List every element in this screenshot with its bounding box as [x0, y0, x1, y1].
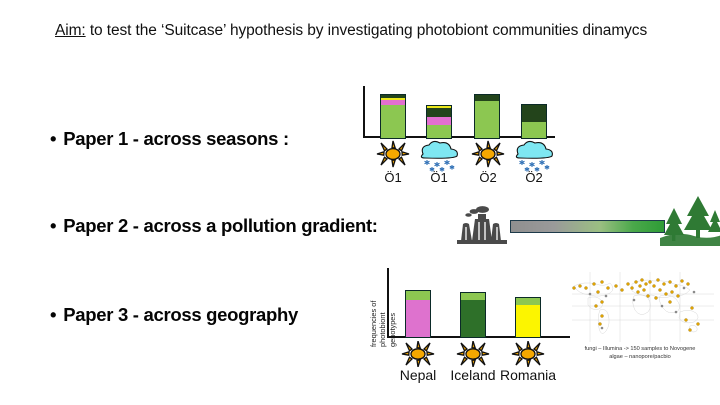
chart3-bar-iceland-seg-main — [461, 300, 485, 337]
gradient-bar — [510, 220, 665, 233]
chart1-bar-3 — [474, 94, 500, 139]
chart1-y-axis — [363, 86, 365, 138]
chart3-bar-iceland — [460, 292, 486, 338]
aim-statement: Aim: to test the ‘Suitcase’ hypothesis b… — [55, 20, 675, 41]
chart1-bar-2-seg-darkgreen — [427, 108, 451, 116]
chart1-bar-3-seg-lightgreen — [475, 101, 499, 138]
bullet-dot-icon: • — [50, 128, 56, 150]
world-sampling-map — [572, 272, 714, 342]
aim-label: Aim: — [55, 22, 86, 39]
chart1-bar-4 — [521, 104, 547, 139]
bullet-paper-3-label: Paper 3 - across geography — [63, 304, 298, 325]
bullet-paper-1-label: Paper 1 - across seasons : — [63, 128, 289, 149]
factory-icon — [455, 202, 509, 251]
slide-canvas: Aim: to test the ‘Suitcase’ hypothesis b… — [0, 0, 720, 405]
season-label-3: Ö2 — [464, 170, 512, 185]
paper-3-location-axis: Nepal Iceland — [335, 341, 570, 383]
chart1-bar-4-seg-darkgreen — [522, 105, 546, 122]
season-label-1: Ö1 — [369, 170, 417, 185]
chart1-bar-2-seg-pink — [427, 117, 451, 125]
paper-3-bar-chart: genotypes photobiont frequencies of — [335, 268, 570, 340]
bullet-paper-1: •Paper 1 - across seasons : — [50, 128, 289, 150]
chart3-y-axis-label: genotypes photobiont frequencies of — [313, 263, 397, 347]
map-caption-line-1: fungi – Illumina -> 150 samples to Novog… — [560, 345, 720, 353]
paper-1-season-axis: Ö1 Ö1 — [360, 140, 555, 185]
aim-text: to test the ‘Suitcase’ hypothesis by inv… — [86, 22, 648, 39]
chart3-bar-romania — [515, 297, 541, 338]
chart3-bar-romania-seg-main — [516, 305, 540, 337]
chart1-bar-2 — [426, 105, 452, 139]
season-label-4: Ö2 — [510, 170, 558, 185]
chart1-bar-1-seg-lightgreen — [381, 105, 405, 138]
trees-icon — [660, 194, 720, 251]
chart3-bar-romania-seg-top — [516, 298, 540, 305]
paper-2-pollution-gradient — [455, 200, 705, 250]
sun-icon — [464, 140, 512, 173]
bullet-dot-icon: • — [50, 304, 56, 326]
map-caption: fungi – Illumina -> 150 samples to Novog… — [560, 345, 720, 361]
bullet-paper-2: •Paper 2 - across a pollution gradient: — [50, 215, 378, 237]
chart1-bar-2-seg-lightgreen — [427, 125, 451, 138]
paper-1-bar-chart — [360, 86, 555, 141]
chart3-bar-iceland-seg-top — [461, 293, 485, 300]
map-caption-line-2: algae – nanopore/pacbio — [560, 353, 720, 361]
bullet-paper-3: •Paper 3 - across geography — [50, 304, 298, 326]
location-label-romania: Romania — [496, 367, 560, 383]
sun-icon — [369, 140, 417, 173]
chart1-bar-4-seg-lightgreen — [522, 122, 546, 139]
chart3-bar-nepal-seg-top — [406, 291, 430, 300]
chart3-bar-nepal — [405, 290, 431, 338]
bullet-dot-icon: • — [50, 215, 56, 237]
chart1-bar-1 — [380, 94, 406, 139]
chart3-bar-nepal-seg-main — [406, 300, 430, 337]
bullet-paper-2-label: Paper 2 - across a pollution gradient: — [63, 215, 377, 236]
chart3-y-axis — [387, 268, 389, 338]
season-label-2: Ö1 — [415, 170, 463, 185]
